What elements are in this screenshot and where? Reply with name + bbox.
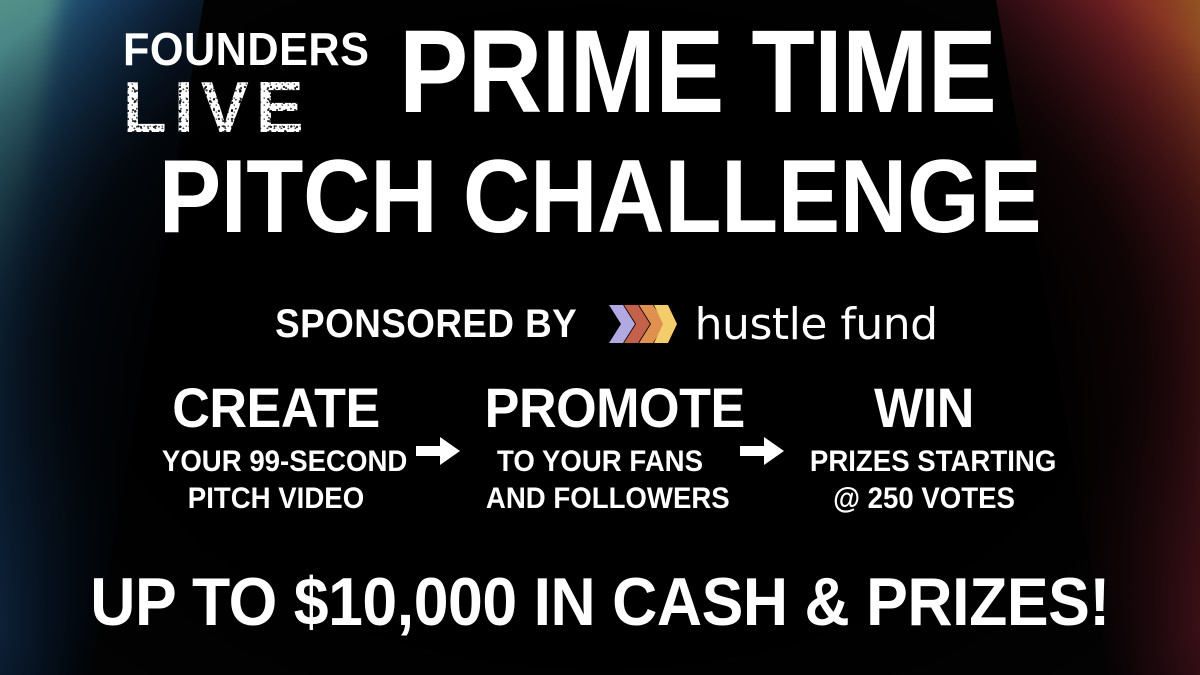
step-subtitle-line-2: AND FOLLOWERS xyxy=(486,481,714,516)
step-win: WIN PRIZES STARTING @ 250 VOTES xyxy=(800,380,1048,517)
title-prime-time: PRIME TIME xyxy=(399,22,996,123)
sponsor-row: SPONSORED BY hustle fund xyxy=(0,296,1200,352)
arrow-right-icon xyxy=(740,436,784,466)
step-title: WIN xyxy=(809,380,1040,436)
step-subtitle-line-1: TO YOUR FANS xyxy=(486,444,714,479)
step-subtitle-line-1: YOUR 99-SECOND xyxy=(162,444,390,479)
step-subtitle-line-2: @ 250 VOTES xyxy=(810,481,1038,516)
prize-banner-text: UP TO $10,000 IN CASH & PRIZES! xyxy=(48,568,1152,636)
hustle-fund-wordmark: hustle fund xyxy=(695,299,938,350)
headline-block: FOUNDERS LIVE PRIME TIME PITCH CHALLENGE xyxy=(0,22,1200,244)
arrow-create-to-promote xyxy=(400,380,476,466)
sponsored-by-label: SPONSORED BY xyxy=(276,302,578,347)
step-title: CREATE xyxy=(161,380,392,436)
steps-row: CREATE YOUR 99-SECOND PITCH VIDEO PROMOT… xyxy=(0,380,1200,517)
prize-banner: UP TO $10,000 IN CASH & PRIZES! xyxy=(0,568,1200,636)
logo-founders-word: FOUNDERS xyxy=(123,28,369,70)
promo-poster: FOUNDERS LIVE PRIME TIME PITCH CHALLENGE… xyxy=(0,0,1200,675)
hustle-fund-chevron-icon xyxy=(607,303,679,345)
step-title: PROMOTE xyxy=(485,380,716,436)
arrow-right-icon xyxy=(416,436,460,466)
step-promote: PROMOTE TO YOUR FANS AND FOLLOWERS xyxy=(476,380,724,517)
step-subtitle-line-2: PITCH VIDEO xyxy=(162,481,390,516)
title-pitch-challenge: PITCH CHALLENGE xyxy=(60,152,1140,244)
headline-line-1: FOUNDERS LIVE PRIME TIME xyxy=(0,22,1200,156)
step-subtitle-line-1: PRIZES STARTING xyxy=(810,444,1038,479)
founders-live-logo: FOUNDERS LIVE xyxy=(123,22,385,143)
poster-content: FOUNDERS LIVE PRIME TIME PITCH CHALLENGE… xyxy=(0,0,1200,675)
logo-live-word: LIVE xyxy=(123,74,311,143)
step-create: CREATE YOUR 99-SECOND PITCH VIDEO xyxy=(152,380,400,517)
